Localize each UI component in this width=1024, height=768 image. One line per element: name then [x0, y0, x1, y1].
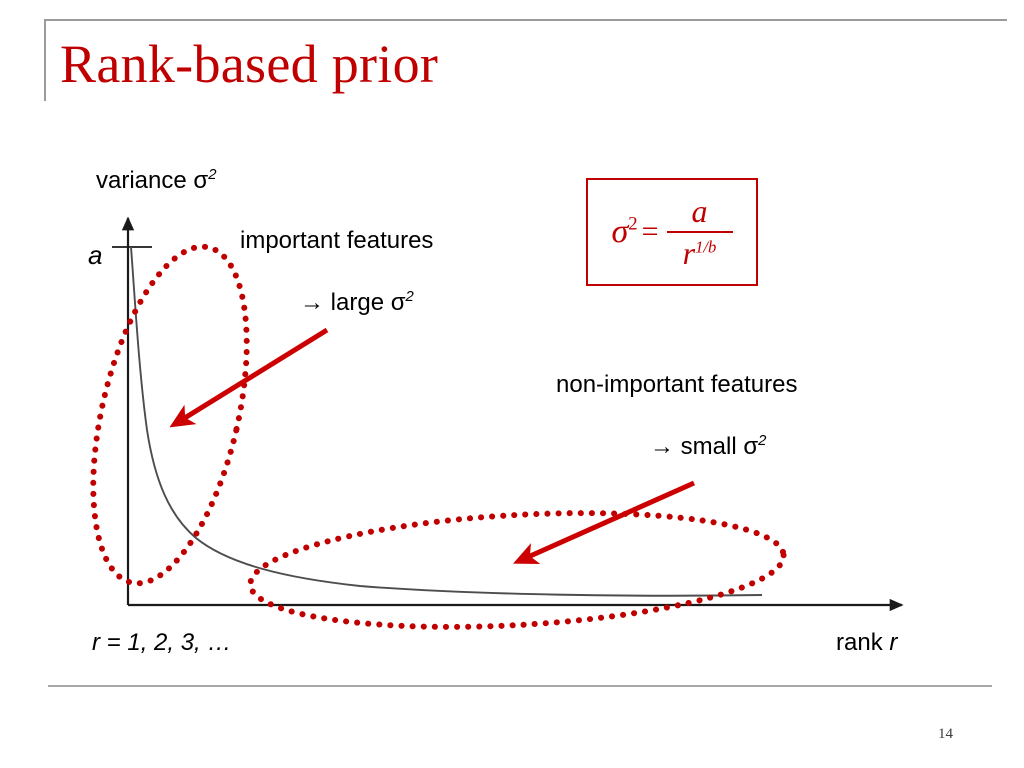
variance-formula-box: σ2 = a r1/b	[586, 178, 758, 286]
page-title: Rank-based prior	[60, 32, 438, 96]
formula-fraction: a r1/b	[667, 195, 733, 269]
page-number: 14	[938, 726, 953, 743]
non-important-features-title: non-important features	[556, 370, 797, 400]
variance-formula: σ2 = a r1/b	[588, 180, 756, 284]
formula-sigma-symbol: σ	[611, 213, 628, 250]
y-axis-tick-label-a: a	[88, 240, 102, 270]
important-features-ellipse	[65, 232, 275, 598]
non-important-features-detail-text: small σ	[674, 433, 758, 460]
arrow-glyph-icon: →	[650, 433, 674, 460]
header-accent-bar	[44, 19, 46, 101]
variance-curve	[131, 247, 762, 596]
rank-series-label-text: r = 1, 2, 3, …	[92, 629, 231, 656]
important-features-detail-exponent: 2	[406, 289, 414, 305]
important-features-arrow	[175, 330, 327, 424]
y-axis-label-exponent: 2	[208, 167, 216, 183]
non-important-features-ellipse	[247, 500, 786, 640]
rank-series-label: r = 1, 2, 3, …	[92, 628, 231, 658]
non-important-features-detail: → small σ2	[650, 432, 766, 462]
arrow-glyph-icon: →	[300, 289, 324, 316]
non-important-features-arrow	[519, 483, 694, 561]
important-features-detail: → large σ2	[300, 288, 414, 318]
y-axis-label-text: variance σ	[96, 167, 208, 194]
y-axis-label: variance σ2	[96, 166, 216, 196]
formula-denominator-exponent: 1/b	[695, 237, 716, 256]
footer-divider	[48, 685, 992, 687]
formula-denominator: r1/b	[675, 233, 725, 269]
slide: Rank-based prior variance σ2 a	[0, 0, 1024, 768]
formula-sigma: σ2	[611, 213, 637, 251]
non-important-features-detail-exponent: 2	[758, 433, 766, 449]
header-divider	[44, 19, 1007, 21]
formula-denominator-base: r	[683, 235, 695, 271]
x-axis-label-text: rank	[836, 629, 889, 656]
formula-numerator: a	[682, 195, 718, 231]
x-axis-label-variable: r	[889, 629, 897, 656]
x-axis-label: rank r	[836, 628, 897, 658]
important-features-detail-text: large σ	[324, 289, 406, 316]
formula-equals: =	[642, 215, 659, 249]
formula-sigma-exponent: 2	[628, 214, 637, 235]
important-features-title: important features	[240, 226, 433, 256]
